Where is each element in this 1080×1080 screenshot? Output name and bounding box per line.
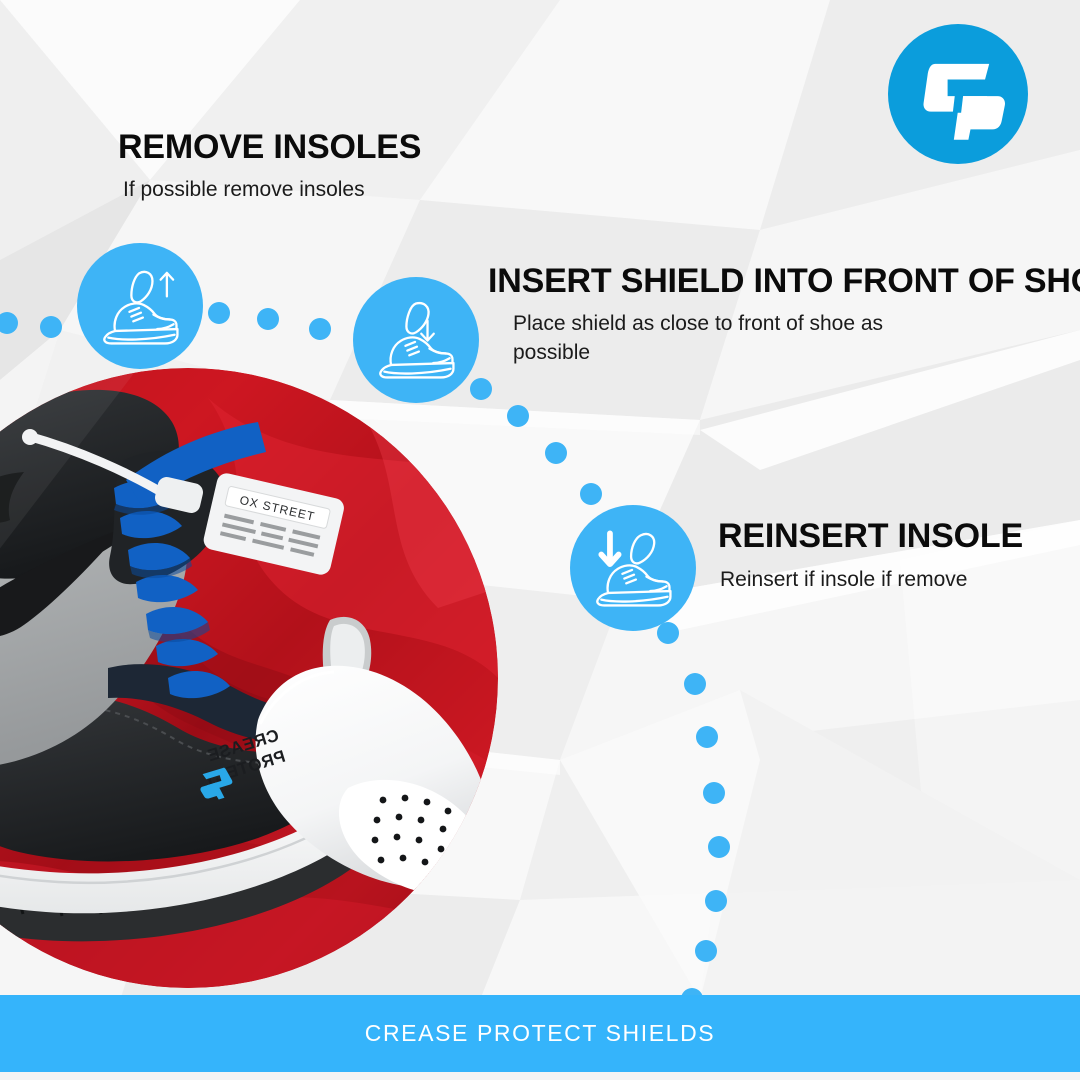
connector-dot	[507, 405, 529, 427]
connector-dot	[545, 442, 567, 464]
step-1-body: If possible remove insoles	[123, 176, 423, 205]
connector-dot	[208, 302, 230, 324]
cp-logo	[888, 24, 1028, 164]
connector-dot	[708, 836, 730, 858]
connector-dot	[684, 673, 706, 695]
infographic-canvas: REMOVE INSOLES If possible remove insole…	[0, 0, 1080, 1080]
connector-dot	[470, 378, 492, 400]
step-2-title: INSERT SHIELD INTO FRONT OF SHOE	[488, 264, 1080, 300]
connector-dot	[657, 622, 679, 644]
connector-dot	[40, 316, 62, 338]
shoe-insole-out-icon	[77, 243, 203, 369]
footer-bar: CREASE PROTECT SHIELDS	[0, 995, 1080, 1072]
connector-dot	[695, 940, 717, 962]
shoe-arrow-down-icon	[570, 505, 696, 631]
connector-dot	[309, 318, 331, 340]
connector-dot	[257, 308, 279, 330]
footer-label: CREASE PROTECT SHIELDS	[0, 995, 1080, 1072]
connector-dot	[703, 782, 725, 804]
step-1-title: REMOVE INSOLES	[118, 130, 421, 166]
connector-dot	[696, 726, 718, 748]
connector-dot	[580, 483, 602, 505]
step-3-title: REINSERT INSOLE	[718, 519, 1023, 555]
step-3-body: Reinsert if insole if remove	[720, 566, 1010, 595]
shoe-insole-in-icon	[353, 277, 479, 403]
cp-monogram-icon	[906, 42, 1010, 146]
step-2-body: Place shield as close to front of shoe a…	[513, 310, 913, 368]
connector-dot	[705, 890, 727, 912]
